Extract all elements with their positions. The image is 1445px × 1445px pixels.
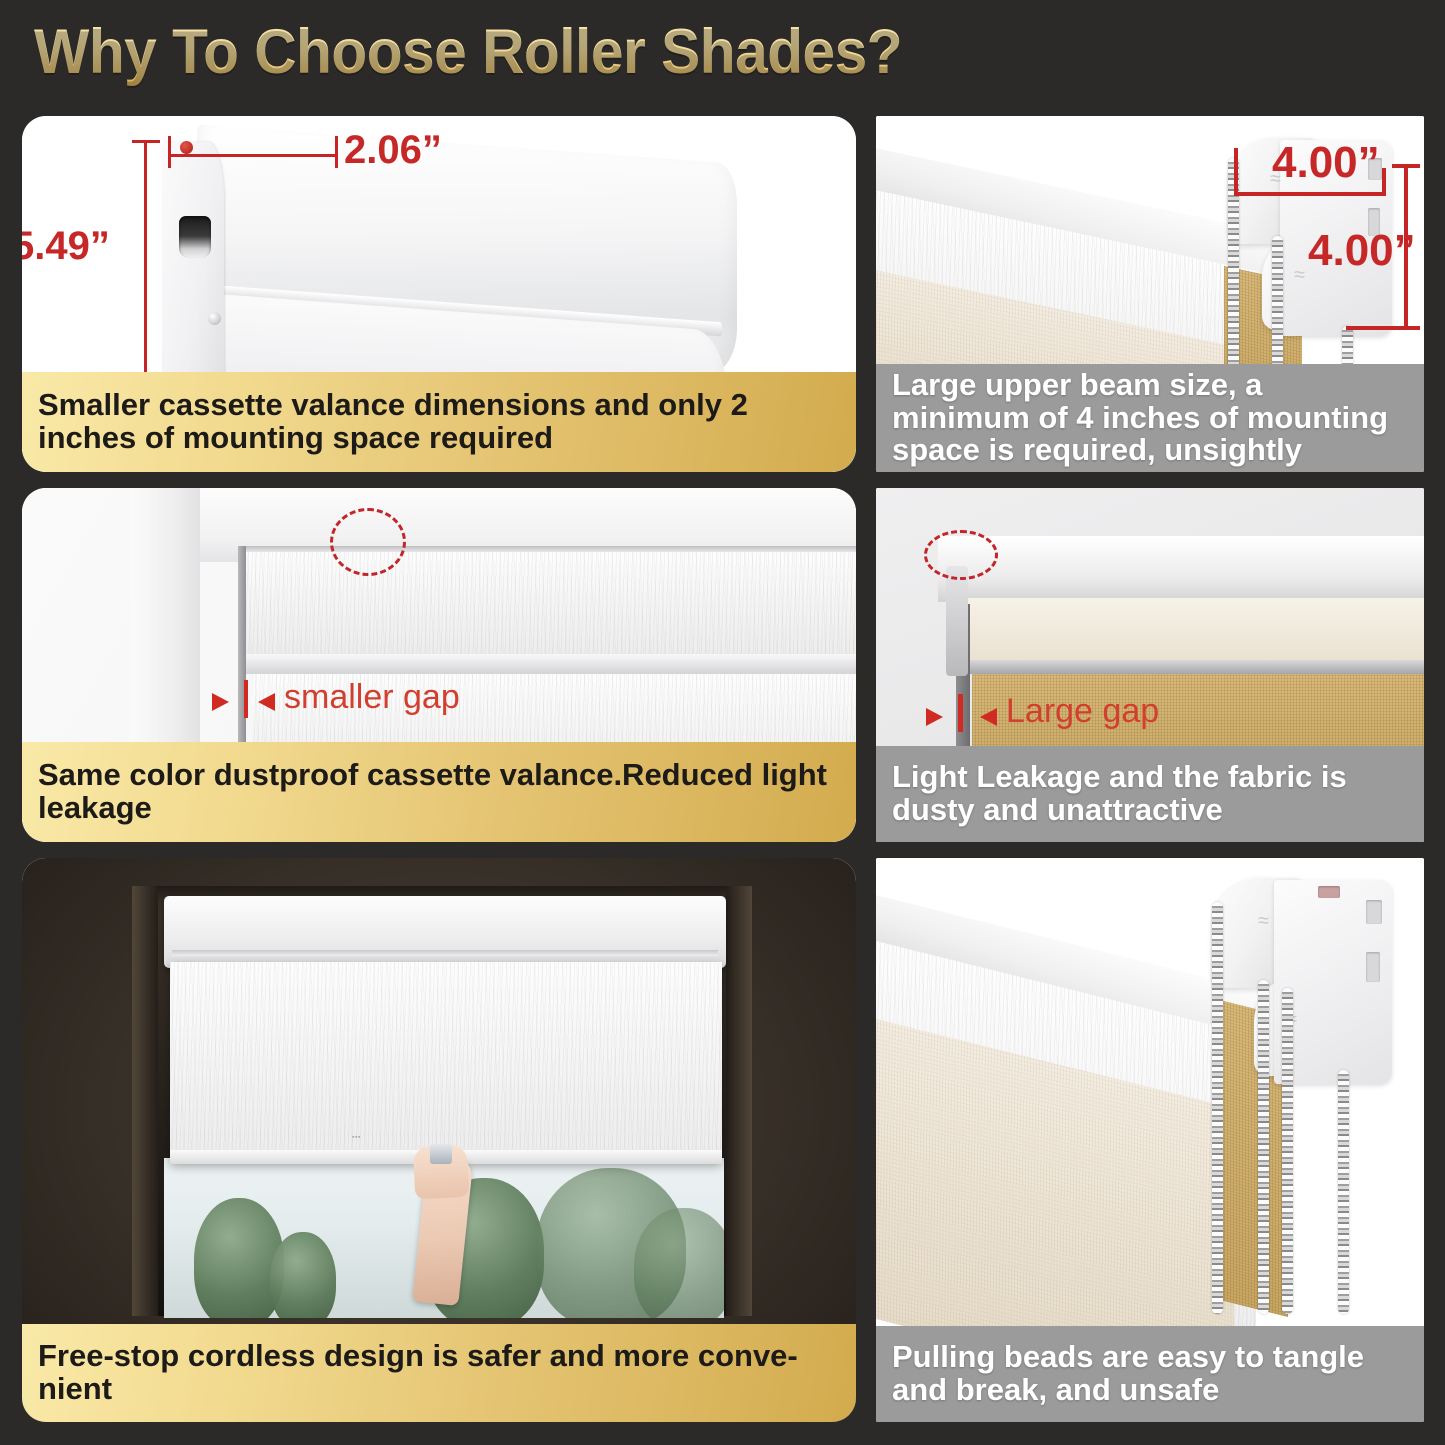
gap-arrow-right-icon [258, 693, 275, 711]
bottom-rail [244, 654, 856, 674]
bead-chain-2 [1258, 980, 1269, 1314]
endcap-wave-icon-2: ≈ [1294, 264, 1305, 287]
panel-5-caption-text: Free-stop cordless design is safer and m… [22, 1340, 856, 1406]
panel-2-caption-bar: Large upper beam size, a minimum of 4 in… [876, 364, 1424, 472]
bracket-screw-icon [208, 312, 221, 325]
panel-4-caption-text: Light Leakage and the fabric is dusty an… [876, 761, 1424, 827]
valance-bottom-rail [960, 660, 1424, 674]
brand-logo: ▪▪▪ [352, 1134, 361, 1141]
panel-5-caption-bar: Free-stop cordless design is safer and m… [22, 1324, 856, 1422]
window-jamb-left [132, 886, 158, 1316]
width-dim-line [168, 154, 338, 157]
panel-smaller-cassette[interactable]: 2.06” 5.49” Smaller cassette valance dim… [22, 116, 856, 472]
panel-2-caption-text: Large upper beam size, a minimum of 4 in… [876, 369, 1424, 468]
panel-dustproof-valance[interactable]: smaller gap Same color dustproof cassett… [22, 488, 856, 842]
endplate-slot-icon-2 [1366, 952, 1380, 982]
panel-3-caption-bar: Same color dustproof cassette valance.Re… [22, 742, 856, 842]
headrail-groove [172, 950, 718, 956]
gap-arrow-left-icon [926, 708, 943, 726]
beam-height-tick-top [1392, 164, 1420, 168]
bead-chain-3 [1282, 988, 1293, 1314]
panel-4-caption-bar: Light Leakage and the fabric is dusty an… [876, 746, 1424, 842]
panel-6-caption-text: Pulling beads are easy to tangle and bre… [876, 1341, 1424, 1407]
bead-chain-1 [1212, 902, 1223, 1314]
shade-pull-tab[interactable] [430, 1144, 452, 1164]
height-dimension-label: 5.49” [22, 224, 110, 269]
endcap-wave-icon-1: ≈ [1258, 910, 1269, 933]
width-dim-tick-right [335, 136, 338, 168]
beam-width-tick-left [1234, 148, 1238, 196]
beam-width-tick-right [1382, 168, 1386, 196]
endplate-slot-icon-3 [1318, 886, 1340, 898]
window-head-rail [938, 536, 1424, 602]
beam-width-dim-line [1234, 192, 1386, 196]
bracket-slot-icon [179, 216, 211, 258]
large-gap-label: Large gap [1006, 692, 1159, 731]
bead-chain-4 [1338, 1070, 1349, 1314]
highlight-ellipse [924, 530, 998, 580]
panel-6-caption-bar: Pulling beads are easy to tangle and bre… [876, 1326, 1424, 1422]
beam-height-tick-bottom [1346, 326, 1420, 330]
width-dimension-label: 2.06” [344, 128, 442, 173]
height-dim-tick-top [132, 140, 160, 143]
roller-mechanism [946, 566, 968, 676]
gap-marker-stem [244, 680, 248, 718]
highlight-ellipse [330, 508, 406, 576]
gap-marker-stem [958, 694, 963, 732]
panel-3-caption-text: Same color dustproof cassette valance.Re… [22, 759, 856, 825]
panel-1-caption-bar: Smaller cassette valance dimensions and … [22, 372, 856, 472]
window-jamb-right [726, 886, 752, 1316]
endplate-slot-icon-1 [1366, 900, 1382, 924]
smaller-gap-label: smaller gap [284, 678, 460, 717]
panel-light-leakage[interactable]: Large gap Light Leakage and the fabric i… [876, 488, 1424, 842]
beam-height-label: 4.00” [1308, 226, 1416, 276]
tree-icon-5 [634, 1208, 724, 1318]
cassette-headrail [164, 896, 726, 968]
beam-width-label: 4.00” [1272, 138, 1380, 188]
gap-arrow-left-icon [212, 693, 229, 711]
panel-pulling-beads[interactable]: ≈ ≈ Pulling beads are easy to tangle and… [876, 858, 1424, 1422]
gap-arrow-right-icon [980, 708, 997, 726]
tree-icon-2 [270, 1232, 336, 1318]
bracket-red-dot-icon [180, 141, 193, 154]
panel-1-caption-text: Smaller cassette valance dimensions and … [22, 389, 856, 455]
panel-cordless-design[interactable]: ▪▪▪ Free-stop cordless design is safer a… [22, 858, 856, 1422]
valance-strip [960, 598, 1424, 664]
cassette-valance [244, 550, 856, 658]
panel-large-upper-beam[interactable]: ≈ ≈ 4.00” 4.00” Large upper beam size, a… [876, 116, 1424, 472]
width-dim-tick-left [168, 136, 171, 168]
shade-panel [170, 962, 722, 1162]
comparison-grid: 2.06” 5.49” Smaller cassette valance dim… [0, 0, 1445, 1445]
